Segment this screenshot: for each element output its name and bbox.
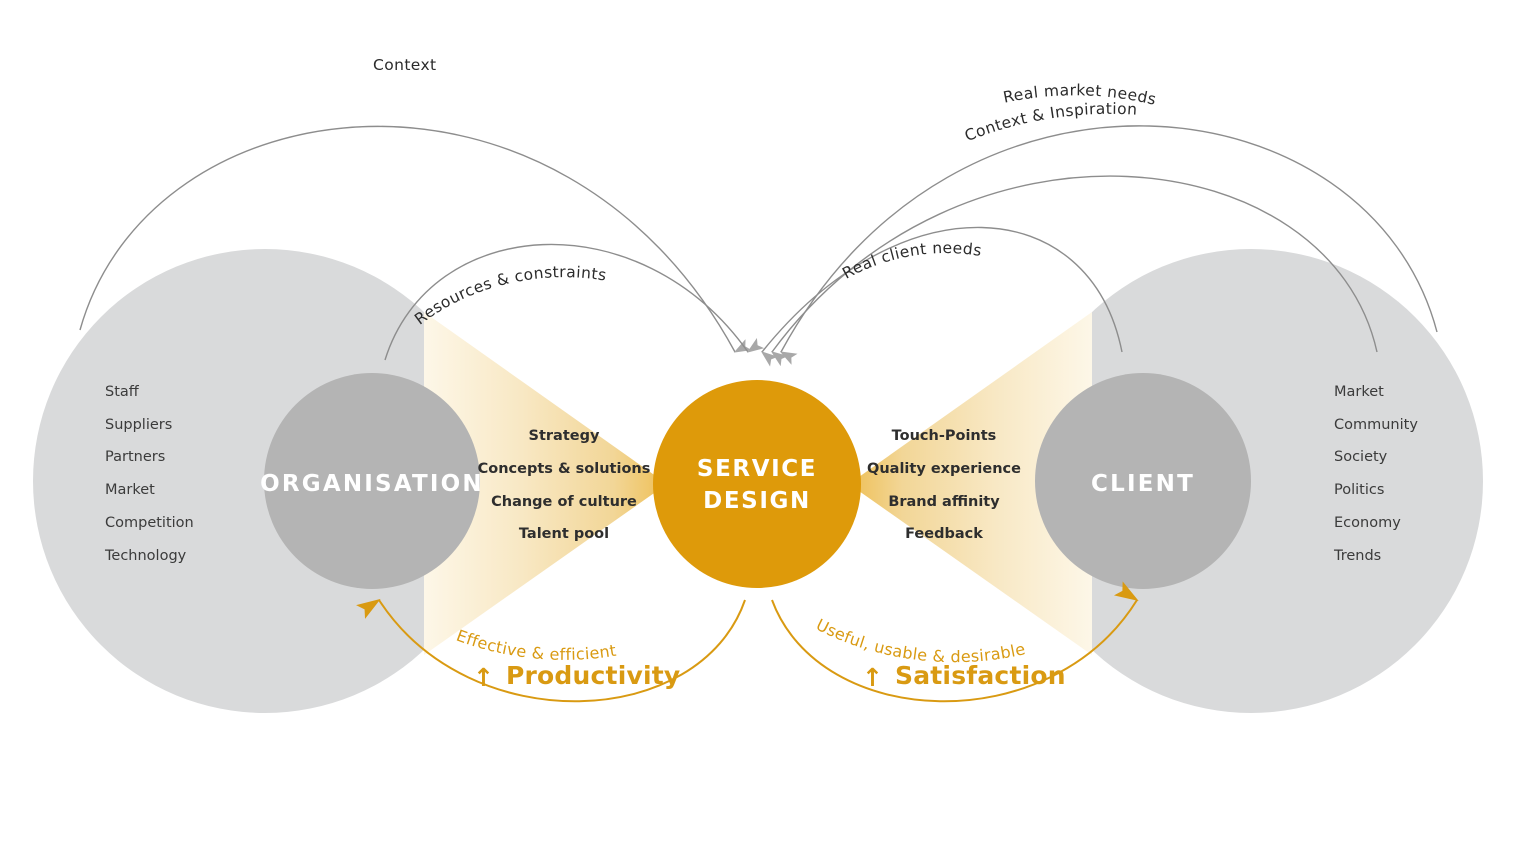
list-item: Concepts & solutions	[478, 461, 651, 477]
list-item: Strategy	[529, 428, 600, 444]
satisfaction-arrow-icon: ↑	[862, 663, 883, 692]
list-item: Economy	[1334, 515, 1401, 531]
list-item: Partners	[105, 449, 165, 465]
service-design-circle[interactable]	[653, 380, 861, 588]
service-design-label-line1: SERVICE	[697, 456, 817, 482]
productivity-caption: Effective & efficient	[454, 626, 618, 664]
service-design-diagram: Context Resources & constraints Context …	[0, 0, 1516, 846]
organisation-label: ORGANISATION	[260, 471, 484, 497]
list-item: Trends	[1333, 548, 1381, 564]
diagram-canvas: Context Resources & constraints Context …	[0, 0, 1516, 846]
service-design-label-line2: DESIGN	[703, 488, 811, 514]
productivity-arrow-icon: ↑	[473, 663, 494, 692]
arc-label-resources-constraints: Resources & constraints	[411, 263, 608, 328]
satisfaction-label: Satisfaction	[895, 661, 1066, 690]
satisfaction-outcome: ↑ Satisfaction	[862, 661, 1066, 692]
list-item: Technology	[104, 548, 187, 564]
arc-label-context-inspiration: Context & Inspiration	[962, 100, 1138, 145]
list-item: Politics	[1334, 482, 1384, 498]
list-item: Change of culture	[491, 494, 637, 510]
list-item: Feedback	[905, 526, 983, 542]
list-item: Market	[1334, 384, 1384, 400]
list-item: Market	[105, 482, 155, 498]
productivity-label: Productivity	[506, 661, 680, 690]
list-item: Suppliers	[105, 417, 172, 433]
arc-label-context: Context	[373, 56, 437, 74]
list-item: Touch-Points	[892, 428, 997, 444]
list-item: Society	[1334, 449, 1388, 465]
list-item: Competition	[105, 515, 194, 531]
list-item: Talent pool	[519, 526, 609, 542]
list-item: Quality experience	[867, 461, 1021, 477]
client-label: CLIENT	[1091, 471, 1195, 497]
list-item: Staff	[105, 384, 140, 400]
productivity-outcome: ↑ Productivity	[473, 661, 680, 692]
arc-label-real-client-needs: Real client needs	[839, 239, 983, 283]
list-item: Brand affinity	[888, 494, 1000, 510]
list-item: Community	[1334, 417, 1418, 433]
satisfaction-caption: Useful, usable & desirable	[813, 615, 1027, 666]
